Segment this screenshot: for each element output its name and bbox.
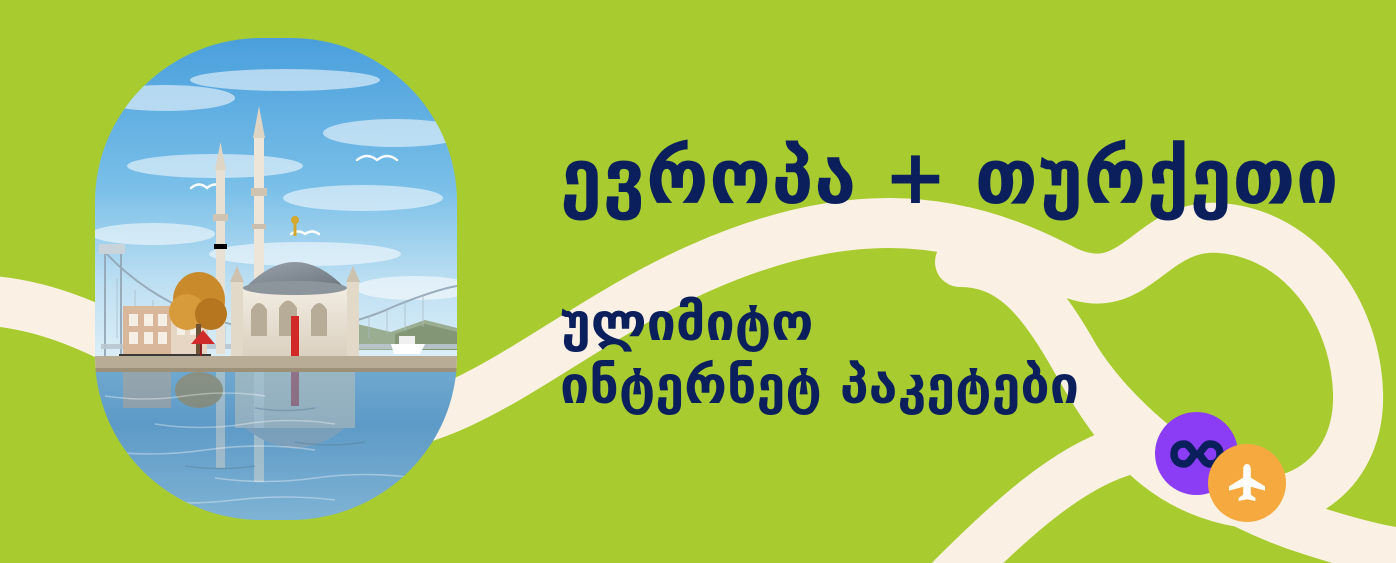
promo-banner: ევროპა + თურქეთი ულიმიტო ინტერნეტ პაკეტე… <box>0 0 1396 563</box>
page-title: ევროპა + თურქეთი <box>560 139 1339 215</box>
ribbon-lower-tail <box>950 452 1120 563</box>
subtitle: ულიმიტო ინტერნეტ პაკეტები <box>560 292 1079 419</box>
airplane-icon <box>1225 461 1269 505</box>
travel-badge <box>1208 444 1286 522</box>
photo-illustration <box>95 38 457 520</box>
destination-photo <box>95 38 457 520</box>
